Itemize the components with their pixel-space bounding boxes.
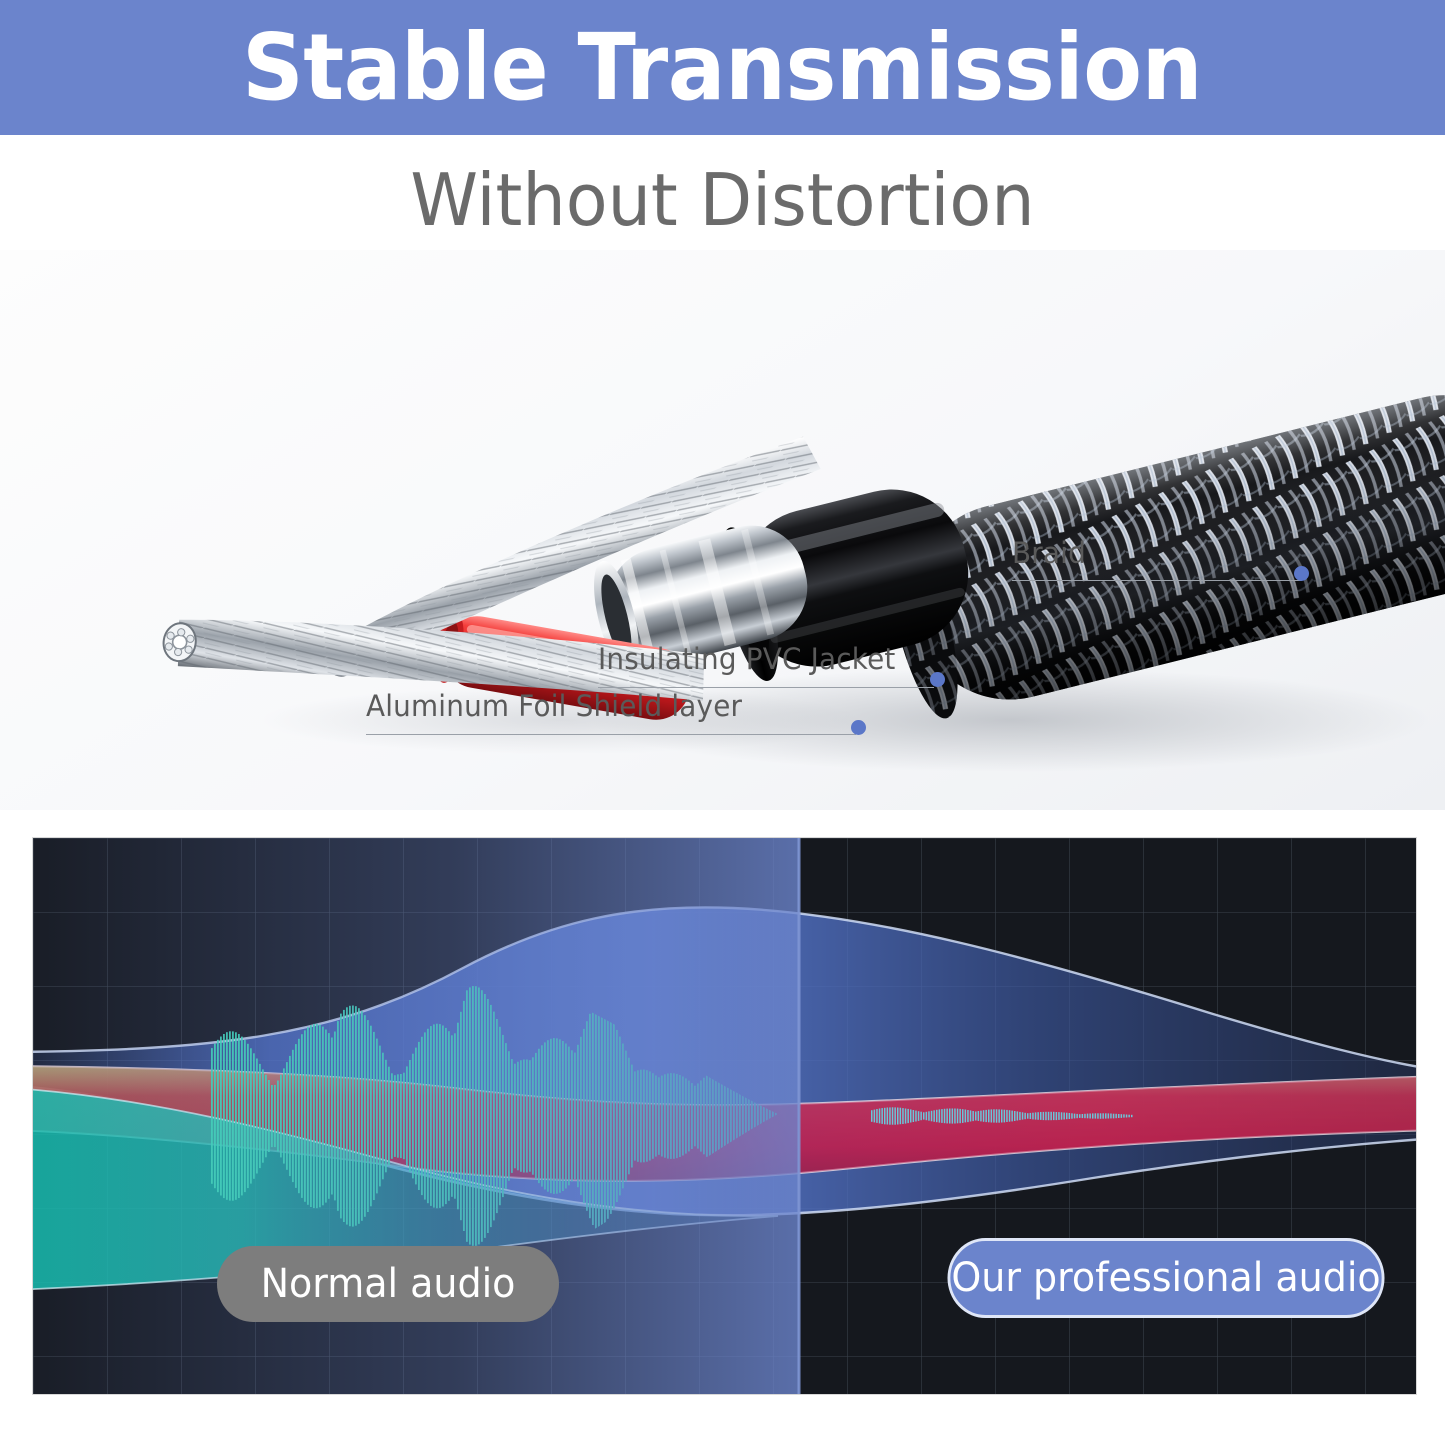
page-subtitle: Without Distortion bbox=[410, 164, 1034, 236]
marker-dot-foil-shield bbox=[851, 720, 866, 735]
marker-dot-braid bbox=[1294, 566, 1309, 581]
badge-professional-audio: Our professional audio bbox=[948, 1238, 1385, 1318]
cable-diagram: Braid Insulating PVC Jacket Aluminum Foi… bbox=[0, 250, 1445, 810]
cable-illustration bbox=[0, 250, 1445, 810]
infographic-page: Stable Transmission Without Distortion bbox=[0, 0, 1445, 1445]
page-title: Stable Transmission bbox=[243, 22, 1203, 114]
leader-line-foil-shield bbox=[366, 734, 856, 735]
callout-label-braid: Braid bbox=[1012, 536, 1086, 570]
leader-line-braid bbox=[1012, 580, 1302, 581]
badge-normal-audio: Normal audio bbox=[217, 1246, 559, 1322]
leader-line-pvc-jacket bbox=[598, 687, 934, 688]
header-band: Stable Transmission bbox=[0, 0, 1445, 135]
audio-comparison-panel: Normal audio Our professional audio bbox=[32, 837, 1417, 1395]
callout-label-foil-shield: Aluminum Foil Shield layer bbox=[366, 689, 742, 723]
subtitle-wrap: Without Distortion bbox=[0, 145, 1445, 255]
marker-dot-pvc-jacket bbox=[930, 672, 945, 687]
callout-label-pvc-jacket: Insulating PVC Jacket bbox=[598, 642, 896, 676]
